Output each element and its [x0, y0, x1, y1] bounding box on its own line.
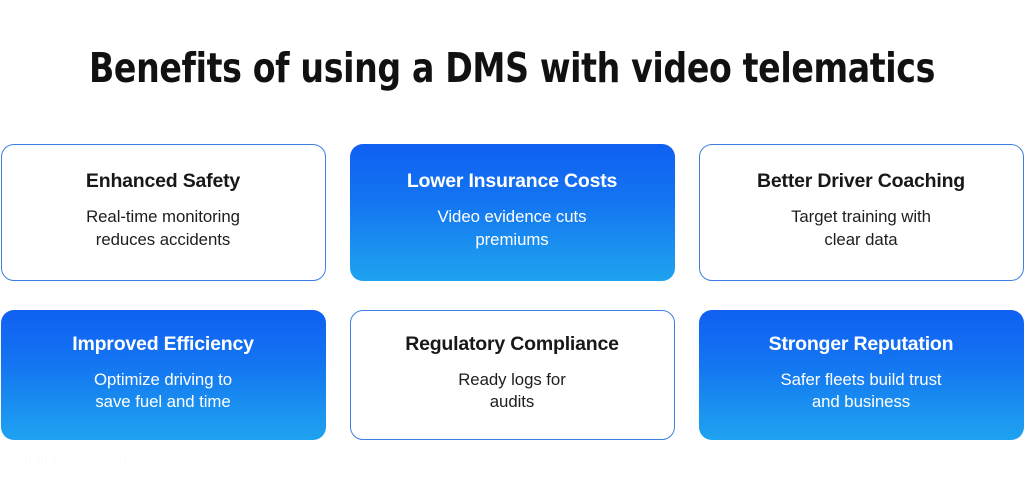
- benefit-card-heading: Enhanced Safety: [86, 170, 240, 193]
- faint-text-artifact: || ||| ||| ||| ||| ||| ||| |||: [8, 448, 308, 468]
- benefit-card-lower-insurance-costs: Lower Insurance Costs Video evidence cut…: [350, 144, 675, 281]
- benefit-card-heading: Better Driver Coaching: [757, 170, 965, 193]
- benefit-card-heading: Lower Insurance Costs: [407, 170, 617, 193]
- benefit-card-stronger-reputation: Stronger Reputation Safer fleets build t…: [699, 310, 1024, 440]
- benefits-infographic: Benefits of using a DMS with video telem…: [0, 0, 1024, 478]
- benefit-card-improved-efficiency: Improved Efficiency Optimize driving to …: [1, 310, 326, 440]
- benefit-card-body: Optimize driving to save fuel and time: [94, 369, 232, 413]
- benefit-card-body: Ready logs for audits: [458, 369, 566, 413]
- benefit-card-body: Target training with clear data: [791, 206, 931, 250]
- benefit-card-body: Safer fleets build trust and business: [780, 369, 941, 413]
- benefit-card-body: Real-time monitoring reduces accidents: [86, 206, 240, 250]
- benefit-card-enhanced-safety: Enhanced Safety Real-time monitoring red…: [1, 144, 326, 281]
- benefit-card-heading: Stronger Reputation: [769, 333, 954, 356]
- benefit-card-better-driver-coaching: Better Driver Coaching Target training w…: [699, 144, 1024, 281]
- benefit-card-grid: Enhanced Safety Real-time monitoring red…: [0, 144, 1024, 440]
- page-title: Benefits of using a DMS with video telem…: [51, 48, 973, 89]
- benefit-card-heading: Improved Efficiency: [72, 333, 254, 356]
- benefit-card-body: Video evidence cuts premiums: [438, 206, 587, 250]
- benefit-card-heading: Regulatory Compliance: [405, 333, 619, 356]
- benefit-card-regulatory-compliance: Regulatory Compliance Ready logs for aud…: [350, 310, 675, 440]
